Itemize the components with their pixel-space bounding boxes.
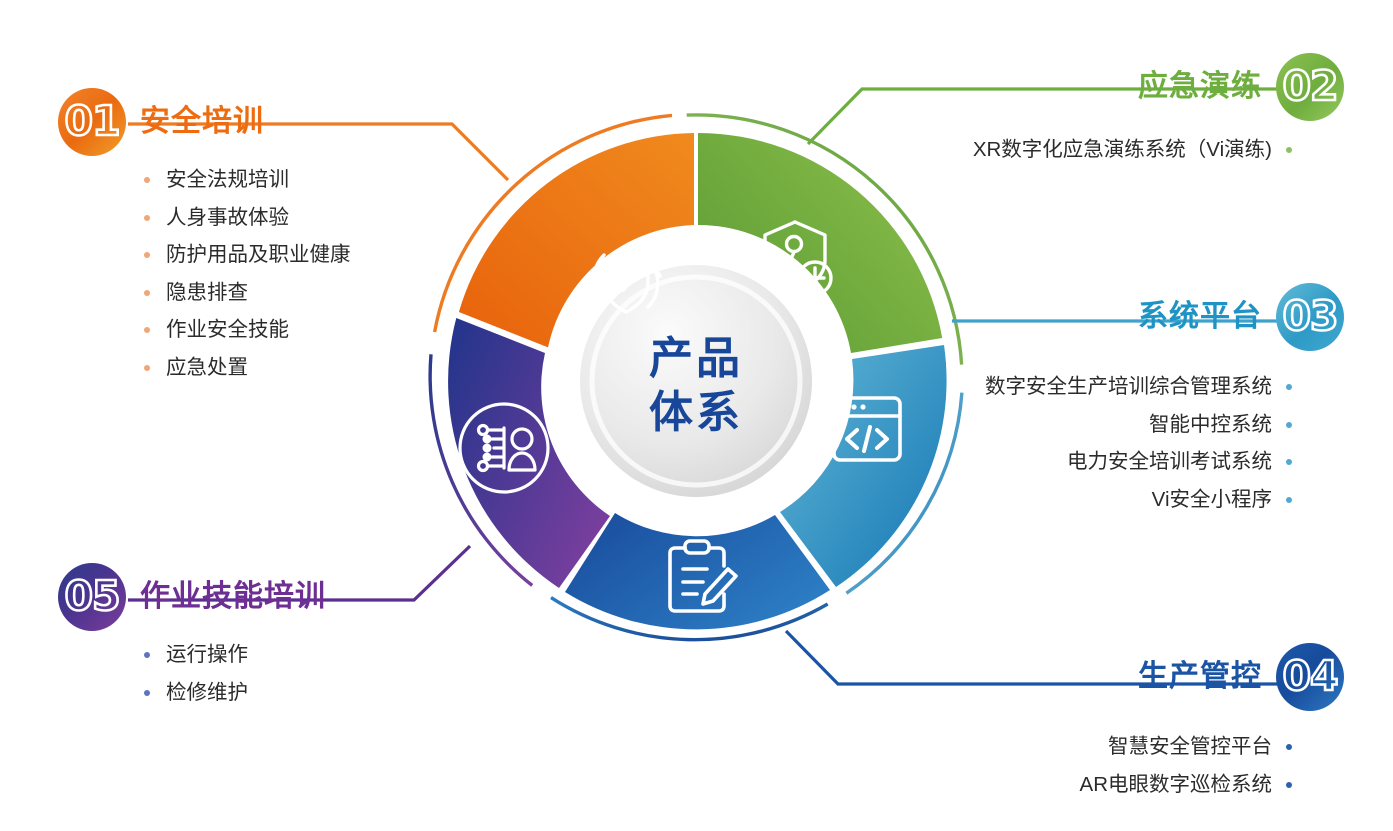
bullet-dot [144, 365, 150, 371]
section-01[interactable]: 01 安全培训 安全法规培训 人身事故体验 防护用品及职业健康 隐患排查 作业安… [58, 88, 351, 395]
list-item-label: 隐患排查 [166, 283, 248, 304]
section-05-number: 05 [64, 576, 119, 619]
list-item[interactable]: 人身事故体验 [144, 208, 351, 229]
list-item[interactable]: 作业安全技能 [144, 320, 351, 341]
list-item[interactable]: Vi安全小程序 [985, 490, 1292, 511]
list-item[interactable]: 数字安全生产培训综合管理系统 [985, 377, 1292, 398]
section-05[interactable]: 05 作业技能培训 运行操作 检修维护 [58, 563, 326, 720]
list-item[interactable]: AR电眼数字巡检系统 [1080, 775, 1292, 796]
section-01-title: 安全培训 [140, 107, 264, 137]
section-03-number: 03 [1282, 296, 1337, 339]
list-item[interactable]: 检修维护 [144, 683, 326, 704]
bullet-dot [1286, 147, 1292, 153]
list-item[interactable]: 电力安全培训考试系统 [985, 452, 1292, 473]
list-item-label: 人身事故体验 [166, 208, 289, 229]
section-02-title: 应急演练 [1138, 72, 1262, 102]
bullet-dot [144, 177, 150, 183]
bullet-dot [144, 327, 150, 333]
list-item-label: 作业安全技能 [166, 320, 289, 341]
section-02-number: 02 [1282, 66, 1337, 109]
section-04-items: 智慧安全管控平台 AR电眼数字巡检系统 [1080, 737, 1292, 795]
list-item-label: 数字安全生产培训综合管理系统 [985, 377, 1272, 398]
section-01-items: 安全法规培训 人身事故体验 防护用品及职业健康 隐患排查 作业安全技能 应急处置 [144, 170, 351, 378]
section-04[interactable]: 生产管控 04 智慧安全管控平台 AR电眼数字巡检系统 [1080, 643, 1344, 812]
section-02-items: XR数字化应急演练系统（Vi演练) [973, 140, 1292, 161]
list-item[interactable]: 智慧安全管控平台 [1080, 737, 1292, 758]
infographic-canvas: 产品 体系 [0, 0, 1393, 831]
list-item[interactable]: 安全法规培训 [144, 170, 351, 191]
section-03-title: 系统平台 [1138, 302, 1262, 332]
section-03-items: 数字安全生产培训综合管理系统 智能中控系统 电力安全培训考试系统 Vi安全小程序 [985, 377, 1292, 510]
list-item[interactable]: 隐患排查 [144, 283, 351, 304]
list-item-label: 智慧安全管控平台 [1108, 737, 1272, 758]
bullet-dot [1286, 459, 1292, 465]
section-01-header: 01 安全培训 [58, 88, 351, 156]
list-item-label: 运行操作 [166, 645, 248, 666]
section-05-badge[interactable]: 05 [58, 563, 126, 631]
list-item-label: AR电眼数字巡检系统 [1080, 775, 1272, 796]
section-02-header: 应急演练 02 [973, 53, 1344, 121]
bullet-dot [144, 252, 150, 258]
bullet-dot [144, 690, 150, 696]
list-item-label: 防护用品及职业健康 [166, 245, 351, 266]
bullet-dot [1286, 497, 1292, 503]
bullet-dot [144, 215, 150, 221]
bullet-dot [1286, 384, 1292, 390]
section-03[interactable]: 系统平台 03 数字安全生产培训综合管理系统 智能中控系统 电力安全培训考试系统… [985, 283, 1344, 527]
list-item[interactable]: 应急处置 [144, 358, 351, 379]
list-item-label: Vi安全小程序 [1152, 490, 1272, 511]
list-item-label: 电力安全培训考试系统 [1067, 452, 1272, 473]
list-item[interactable]: 防护用品及职业健康 [144, 245, 351, 266]
section-03-badge[interactable]: 03 [1276, 283, 1344, 351]
list-item[interactable]: 运行操作 [144, 645, 326, 666]
section-02-badge[interactable]: 02 [1276, 53, 1344, 121]
list-item-label: 智能中控系统 [1149, 415, 1272, 436]
bullet-dot [1286, 744, 1292, 750]
section-04-badge[interactable]: 04 [1276, 643, 1344, 711]
section-05-header: 05 作业技能培训 [58, 563, 326, 631]
section-05-items: 运行操作 检修维护 [144, 645, 326, 703]
list-item[interactable]: XR数字化应急演练系统（Vi演练) [973, 140, 1292, 161]
section-04-header: 生产管控 04 [1080, 643, 1344, 711]
section-01-number: 01 [64, 101, 119, 144]
section-01-badge[interactable]: 01 [58, 88, 126, 156]
section-03-header: 系统平台 03 [985, 283, 1344, 351]
section-04-number: 04 [1282, 656, 1337, 699]
list-item-label: 安全法规培训 [166, 170, 289, 191]
section-05-title: 作业技能培训 [140, 582, 326, 612]
list-item-label: 检修维护 [166, 683, 248, 704]
section-02[interactable]: 应急演练 02 XR数字化应急演练系统（Vi演练) [973, 53, 1344, 178]
bullet-dot [1286, 422, 1292, 428]
bullet-dot [144, 290, 150, 296]
list-item[interactable]: 智能中控系统 [985, 415, 1292, 436]
list-item-label: XR数字化应急演练系统（Vi演练) [973, 140, 1272, 161]
bullet-dot [1286, 782, 1292, 788]
section-04-title: 生产管控 [1138, 662, 1262, 692]
list-item-label: 应急处置 [166, 358, 248, 379]
bullet-dot [144, 652, 150, 658]
